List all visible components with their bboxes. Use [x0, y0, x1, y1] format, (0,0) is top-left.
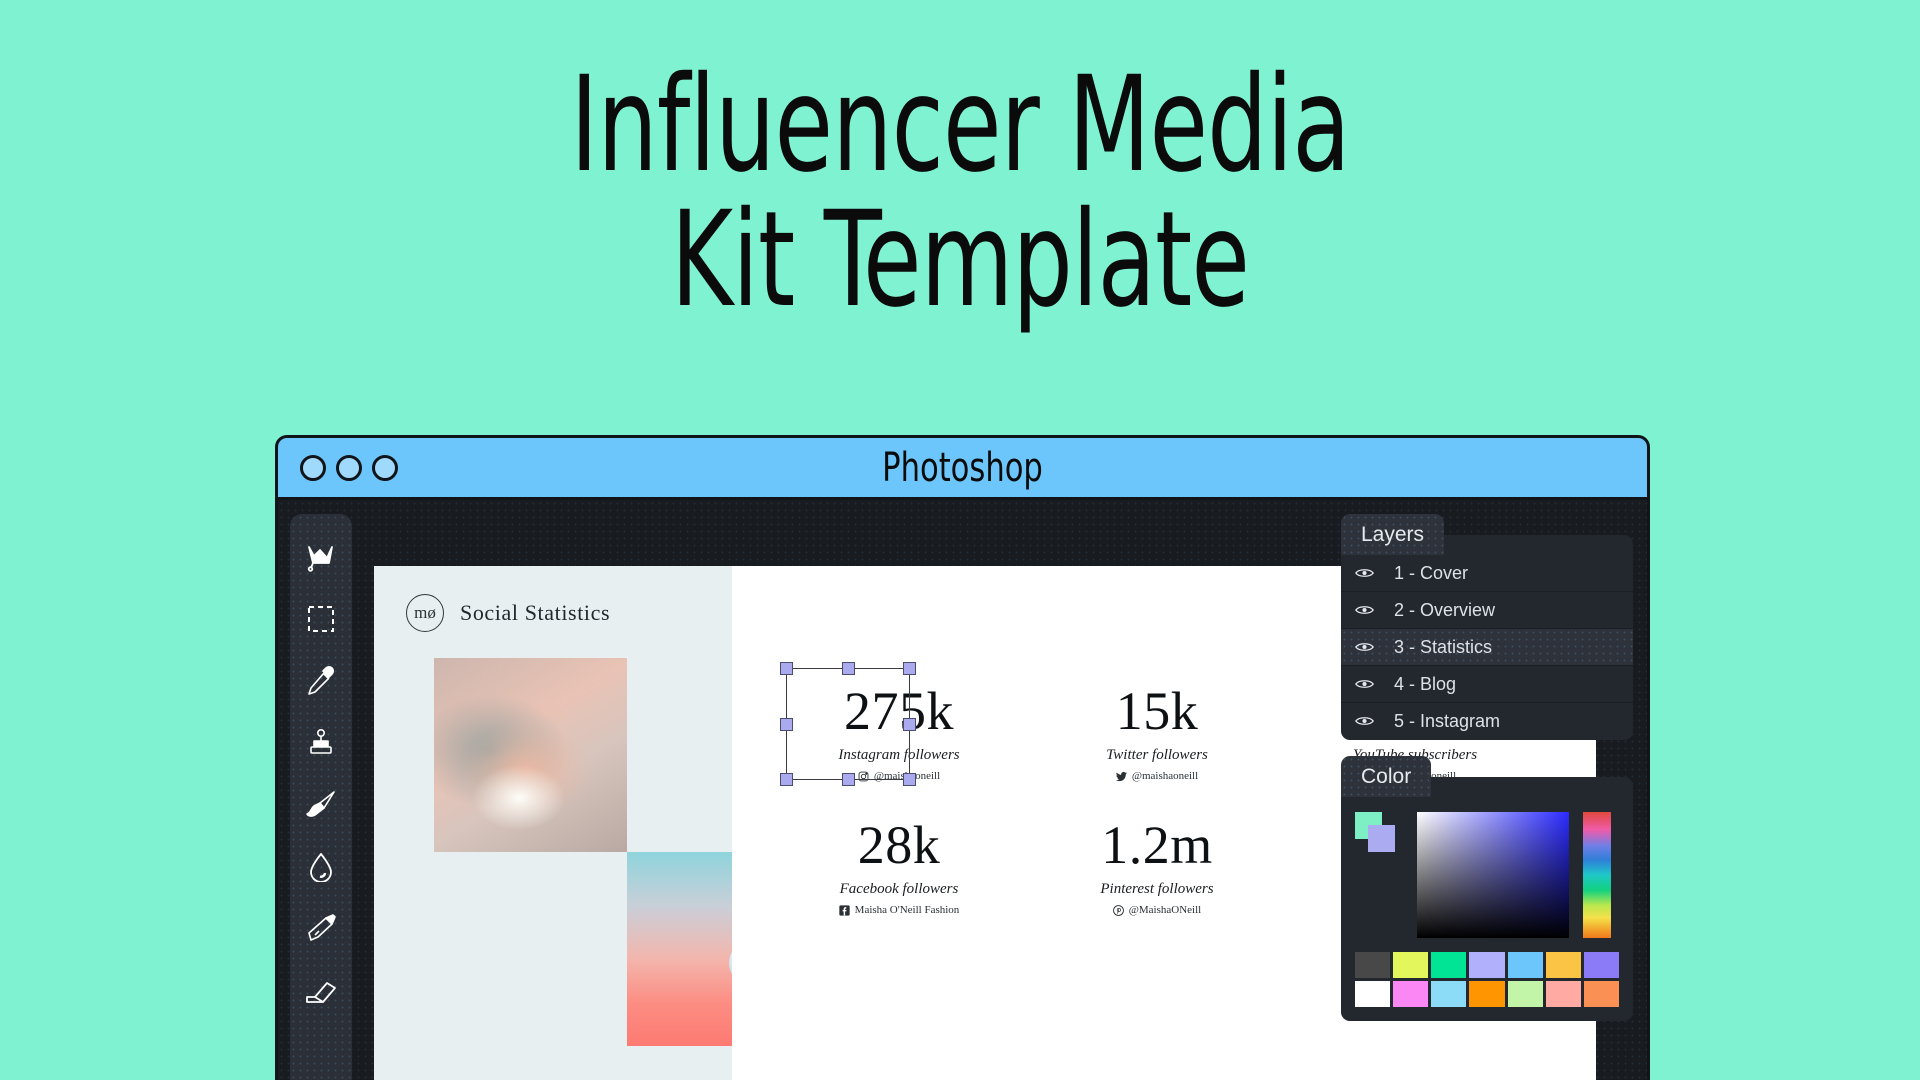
foreground-background-swatches[interactable]	[1355, 812, 1403, 860]
eye-icon[interactable]	[1355, 637, 1374, 658]
palette-swatch[interactable]	[1546, 952, 1581, 978]
eye-icon[interactable]	[1355, 674, 1374, 695]
stat-facebook[interactable]: 28k Facebook followers Maisha O'Neill Fa…	[770, 818, 1028, 916]
palette-swatch[interactable]	[1431, 981, 1466, 1007]
eyedropper-tool-icon[interactable]	[304, 664, 338, 698]
palette-swatch[interactable]	[1546, 981, 1581, 1007]
stat-pinterest[interactable]: 1.2m Pinterest followers @MaishaONeill	[1028, 818, 1286, 916]
layer-row[interactable]: 4 - Blog	[1341, 666, 1633, 703]
stat-label: Facebook followers	[770, 881, 1028, 898]
color-panel-body	[1341, 797, 1633, 1021]
selection-handle-top-right[interactable]	[903, 662, 916, 675]
palette-swatch[interactable]	[1469, 981, 1504, 1007]
kit-section-title: Social Statistics	[460, 600, 610, 626]
selection-handle-top-center[interactable]	[842, 662, 855, 675]
eye-icon[interactable]	[1355, 711, 1374, 732]
lasso-tool-icon[interactable]	[304, 540, 338, 574]
collage-photo-1	[434, 658, 627, 852]
layer-name: 1 - Cover	[1394, 563, 1468, 584]
pinterest-icon	[1113, 905, 1124, 916]
color-panel: Color	[1341, 756, 1633, 1021]
kit-logo: mø Social Statistics	[406, 594, 610, 632]
layer-row-selected[interactable]: 3 - Statistics	[1341, 629, 1633, 666]
stat-label: Pinterest followers	[1028, 881, 1286, 898]
layers-tabstrip-filler	[1444, 535, 1633, 555]
palette-swatch[interactable]	[1431, 952, 1466, 978]
stat-handle: @MaishaONeill	[1129, 904, 1201, 916]
logo-monogram: mø	[406, 594, 444, 632]
palette-swatch[interactable]	[1584, 981, 1619, 1007]
marquee-tool-icon[interactable]	[304, 602, 338, 636]
stat-handle: Maisha O'Neill Fashion	[855, 904, 960, 916]
palette-swatch[interactable]	[1508, 952, 1543, 978]
eye-icon[interactable]	[1355, 563, 1374, 584]
layers-list: 1 - Cover 2 - Overview	[1341, 555, 1633, 740]
stat-label: Instagram followers	[770, 747, 1028, 764]
palette-row-2	[1341, 978, 1633, 1021]
tab-color-label: Color	[1361, 765, 1411, 788]
palette-swatch[interactable]	[1584, 952, 1619, 978]
color-panel-tabstrip: Color	[1341, 756, 1633, 797]
instagram-icon	[858, 771, 869, 782]
layer-name: 5 - Instagram	[1394, 711, 1500, 732]
tab-layers-label: Layers	[1361, 523, 1424, 546]
palette-swatch[interactable]	[1469, 952, 1504, 978]
stat-twitter[interactable]: 15k Twitter followers @maishaoneill	[1028, 684, 1286, 782]
stat-label: Twitter followers	[1028, 747, 1286, 764]
layer-row[interactable]: 5 - Instagram	[1341, 703, 1633, 740]
kit-left-column: mø Social Statistics www.maishaoneill.co…	[374, 566, 732, 1080]
photoshop-window: Photoshop	[275, 435, 1650, 1080]
facebook-icon	[839, 905, 850, 916]
twitter-icon	[1116, 771, 1127, 782]
layer-row[interactable]: 1 - Cover	[1341, 555, 1633, 592]
layers-panel-tabstrip: Layers	[1341, 514, 1633, 555]
close-button[interactable]	[300, 455, 326, 481]
stat-handle-row: @maishaoneill	[770, 770, 1028, 782]
hero-line-1: Influencer Media	[570, 48, 1349, 202]
tool-palette	[290, 514, 352, 1080]
blur-tool-icon[interactable]	[304, 850, 338, 884]
minimize-button[interactable]	[336, 455, 362, 481]
stat-number: 275k	[770, 684, 1028, 738]
stat-handle-row: @MaishaONeill	[1028, 904, 1286, 916]
palette-swatch[interactable]	[1355, 952, 1390, 978]
saturation-value-field[interactable]	[1417, 812, 1569, 938]
hero-title-block: Influencer Media Kit Template	[0, 58, 1920, 327]
hero-line-2: Kit Template	[192, 193, 1728, 328]
stat-handle: @maishaoneill	[874, 770, 940, 782]
palette-swatch[interactable]	[1355, 981, 1390, 1007]
selection-handle-top-left[interactable]	[780, 662, 793, 675]
stat-handle-row: Maisha O'Neill Fashion	[770, 904, 1028, 916]
palette-row-1	[1341, 938, 1633, 978]
layer-name: 3 - Statistics	[1394, 637, 1492, 658]
layer-name: 2 - Overview	[1394, 600, 1495, 621]
stat-handle: @maishaoneill	[1132, 770, 1198, 782]
layer-name: 4 - Blog	[1394, 674, 1456, 695]
background-color-swatch[interactable]	[1368, 825, 1395, 852]
page-title: Influencer Media Kit Template	[192, 58, 1728, 327]
window-title: Photoshop	[381, 445, 1545, 491]
window-titlebar: Photoshop	[278, 438, 1647, 500]
hue-slider[interactable]	[1583, 812, 1611, 938]
app-body: mø Social Statistics www.maishaoneill.co…	[278, 500, 1647, 1080]
pen-tool-icon[interactable]	[304, 912, 338, 946]
stat-handle-row: @maishaoneill	[1028, 770, 1286, 782]
brush-tool-icon[interactable]	[304, 788, 338, 822]
layers-panel: Layers 1 - Cover	[1341, 514, 1633, 740]
stat-number: 28k	[770, 818, 1028, 872]
stat-instagram[interactable]: 275k Instagram followers @maishaoneill	[770, 684, 1028, 782]
tab-layers[interactable]: Layers	[1341, 514, 1444, 555]
stamp-tool-icon[interactable]	[304, 726, 338, 760]
eraser-tool-icon[interactable]	[304, 974, 338, 1008]
palette-swatch[interactable]	[1393, 952, 1428, 978]
layer-row[interactable]: 2 - Overview	[1341, 592, 1633, 629]
collage-photo-3	[434, 852, 627, 1046]
tab-color[interactable]: Color	[1341, 756, 1431, 797]
palette-swatch[interactable]	[1508, 981, 1543, 1007]
stat-number: 1.2m	[1028, 818, 1286, 872]
palette-swatch[interactable]	[1393, 981, 1428, 1007]
color-tabstrip-filler	[1431, 777, 1633, 797]
right-panel-stack: Layers 1 - Cover	[1341, 514, 1633, 1037]
eye-icon[interactable]	[1355, 600, 1374, 621]
stat-number: 15k	[1028, 684, 1286, 738]
